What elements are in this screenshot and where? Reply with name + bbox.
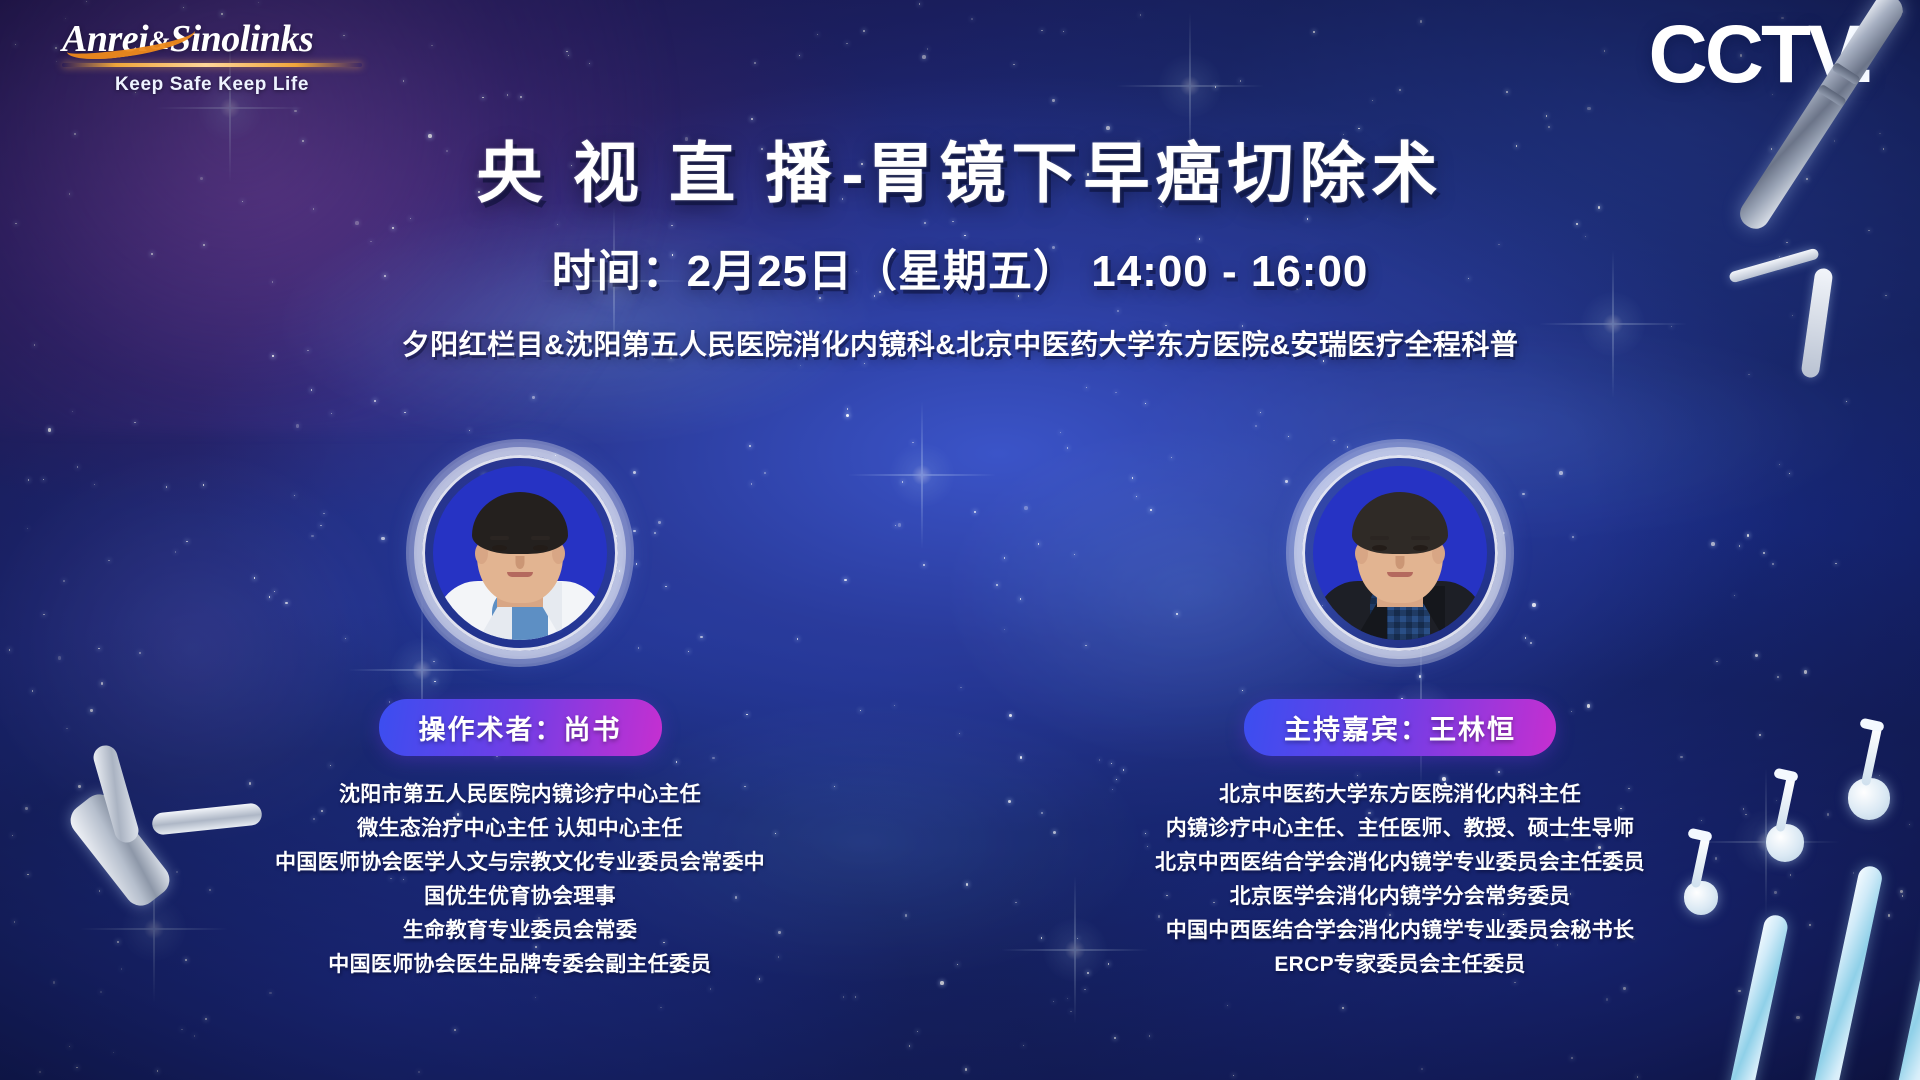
cctv-logo: CCTV. xyxy=(1649,14,1872,96)
list-item: 中国医师协会医生品牌专委会副主任委员 xyxy=(260,948,780,982)
avatar-ring xyxy=(1302,455,1498,651)
brand-tagline: Keep Safe Keep Life xyxy=(62,74,362,96)
status-badge: 主持嘉宾：王林恒 xyxy=(1244,699,1556,756)
list-item: 生命教育专业委员会常委 xyxy=(260,914,780,948)
headline-block: 央 视 直 播-胃镜下早癌切除术 时间：2月25日（星期五） 14:00 - 1… xyxy=(0,138,1920,363)
page-title: 央 视 直 播-胃镜下早癌切除术 xyxy=(0,138,1920,209)
avatar-ring xyxy=(422,455,618,651)
event-time: 时间：2月25日（星期五） 14:00 - 16:00 xyxy=(0,235,1920,299)
list-item: 中国中西医结合学会消化内镜学专业委员会秘书长 xyxy=(1140,914,1660,948)
list-item: 微生态治疗中心主任 认知中心主任 xyxy=(260,812,780,846)
event-organizers: 夕阳红栏目&沈阳第五人民医院消化内镜科&北京中医药大学东方医院&安瑞医疗全程科普 xyxy=(0,323,1920,363)
brand-divider xyxy=(62,63,362,67)
speakers-row: 操作术者：尚书 沈阳市第五人民医院内镜诊疗中心主任 微生态治疗中心主任 认知中心… xyxy=(0,455,1920,982)
list-item: 北京中医药大学东方医院消化内科主任 xyxy=(1140,778,1660,812)
title-dash: - xyxy=(838,136,868,210)
title-main: 央 视 直 播 xyxy=(477,136,838,210)
poster-canvas: Anrei&Sinolinks Keep Safe Keep Life CCTV… xyxy=(0,0,1920,1080)
list-item: 国优生优育协会理事 xyxy=(260,880,780,914)
status-badge: 操作术者：尚书 xyxy=(379,699,662,756)
list-item: ERCP专家委员会主任委员 xyxy=(1140,948,1660,982)
list-item: 沈阳市第五人民医院内镜诊疗中心主任 xyxy=(260,778,780,812)
speaker-card-host: 主持嘉宾：王林恒 北京中医药大学东方医院消化内科主任 内镜诊疗中心主任、主任医师… xyxy=(1140,455,1660,982)
list-item: 北京中西医结合学会消化内镜学专业委员会主任委员 xyxy=(1140,846,1660,880)
list-item: 中国医师协会医学人文与宗教文化专业委员会常委中 xyxy=(260,846,780,880)
avatar xyxy=(1302,455,1498,651)
credentials-list: 北京中医药大学东方医院消化内科主任 内镜诊疗中心主任、主任医师、教授、硕士生导师… xyxy=(1140,778,1660,982)
avatar xyxy=(422,455,618,651)
speaker-card-operator: 操作术者：尚书 沈阳市第五人民医院内镜诊疗中心主任 微生态治疗中心主任 认知中心… xyxy=(260,455,780,982)
brand-logo: Anrei&Sinolinks Keep Safe Keep Life xyxy=(62,20,362,96)
list-item: 北京医学会消化内镜学分会常务委员 xyxy=(1140,880,1660,914)
title-subject: 胃镜下早癌切除术 xyxy=(868,136,1444,210)
list-item: 内镜诊疗中心主任、主任医师、教授、硕士生导师 xyxy=(1140,812,1660,846)
credentials-list: 沈阳市第五人民医院内镜诊疗中心主任 微生态治疗中心主任 认知中心主任 中国医师协… xyxy=(260,778,780,982)
